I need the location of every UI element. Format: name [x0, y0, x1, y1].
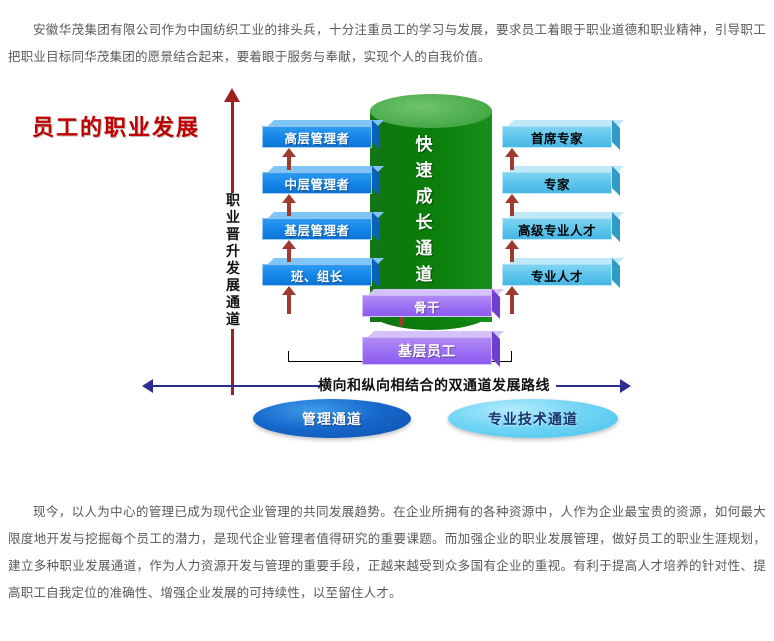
- technical-box-label: 首席专家: [502, 126, 612, 148]
- arrow-stem: [510, 155, 514, 170]
- horizontal-axis: 横向和纵向相结合的双通道发展路线: [142, 376, 632, 396]
- management-box-label: 基层管理者: [262, 218, 372, 240]
- career-development-diagram: 员工的职业发展 职业晋升发展通道 快速成长通道 高层管理者 中层管理者 基层管理…: [0, 88, 774, 438]
- promotion-arrow-up-icon: [282, 286, 296, 314]
- growth-channel-label: 快速成长通道: [412, 132, 436, 288]
- arrow-stem: [287, 247, 291, 262]
- horizontal-axis-label: 横向和纵向相结合的双通道发展路线: [314, 376, 554, 396]
- arrow-right-icon: [620, 379, 631, 393]
- diagram-title: 员工的职业发展: [32, 110, 200, 142]
- promotion-arrow-up-icon: [505, 148, 519, 170]
- management-channel-pill[interactable]: 管理通道: [253, 399, 411, 438]
- management-box-senior[interactable]: 高层管理者: [262, 120, 380, 142]
- arrow-stem: [287, 201, 291, 216]
- promotion-arrow-up-icon: [282, 194, 296, 216]
- growth-channel-cylinder-top: [370, 94, 492, 128]
- base-staff-label: 基层员工: [362, 337, 492, 365]
- connector-line-right-stub: [511, 351, 512, 362]
- promotion-arrow-up-icon: [282, 148, 296, 170]
- vertical-axis-label: 职业晋升发展通道: [223, 193, 243, 329]
- management-box-team-leader[interactable]: 班、组长: [262, 258, 380, 280]
- promotion-arrow-up-icon: [505, 286, 519, 314]
- arrow-left-line: [152, 385, 319, 387]
- base-staff-box[interactable]: 基层员工: [362, 331, 500, 359]
- conclusion-paragraph: 现今，以人为中心的管理已成为现代企业管理的共同发展趋势。在企业所拥有的各种资源中…: [8, 498, 766, 606]
- technical-channel-pill[interactable]: 专业技术通道: [448, 399, 618, 438]
- management-box-label: 高层管理者: [262, 126, 372, 148]
- arrow-stem: [510, 247, 514, 262]
- promotion-arrow-up-icon: [505, 240, 519, 262]
- promotion-arrow-up-icon: [505, 194, 519, 216]
- promotion-arrow-up-icon: [282, 240, 296, 262]
- management-box-middle[interactable]: 中层管理者: [262, 166, 380, 188]
- arrow-right-line: [556, 385, 622, 387]
- technical-box-label: 专业人才: [502, 264, 612, 286]
- technical-box-label: 专家: [502, 172, 612, 194]
- intro-paragraph: 安徽华茂集团有限公司作为中国纺织工业的排头兵，十分注重员工的学习与发展，要求员工…: [8, 16, 766, 70]
- technical-box-chief-expert[interactable]: 首席专家: [502, 120, 620, 142]
- management-box-label: 班、组长: [262, 264, 372, 286]
- arrow-stem: [510, 292, 514, 314]
- management-box-label: 中层管理者: [262, 172, 372, 194]
- technical-box-professional[interactable]: 专业人才: [502, 258, 620, 280]
- technical-box-senior-professional[interactable]: 高级专业人才: [502, 212, 620, 234]
- core-staff-box[interactable]: 骨干: [362, 289, 500, 311]
- management-box-junior[interactable]: 基层管理者: [262, 212, 380, 234]
- arrow-stem: [510, 201, 514, 216]
- technical-box-expert[interactable]: 专家: [502, 166, 620, 188]
- arrow-stem: [287, 155, 291, 170]
- arrow-stem: [287, 292, 291, 314]
- technical-box-label: 高级专业人才: [502, 218, 612, 240]
- core-staff-label: 骨干: [362, 295, 492, 317]
